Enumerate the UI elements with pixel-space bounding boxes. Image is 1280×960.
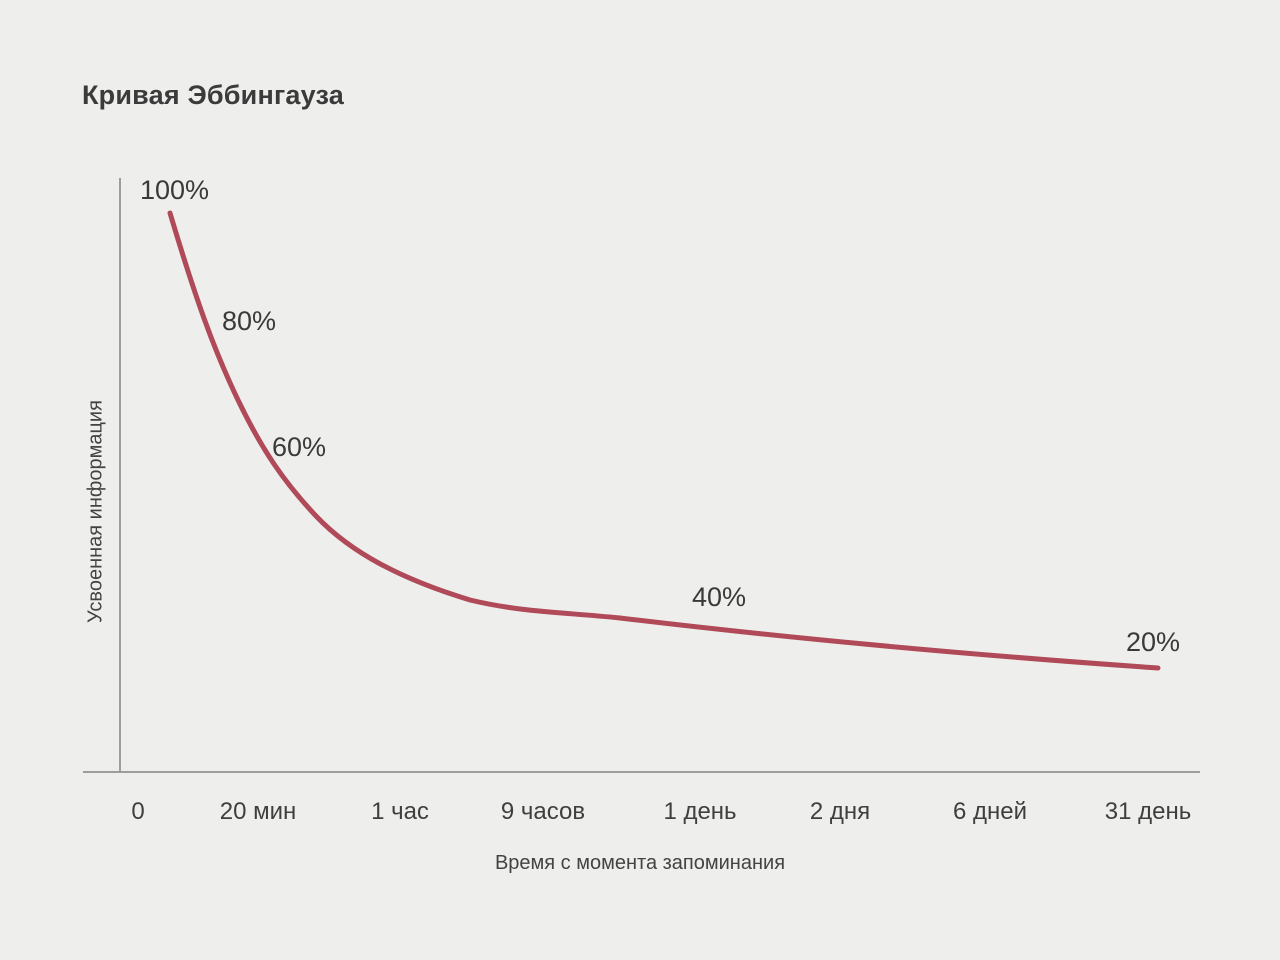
x-axis-title: Время с момента запоминания	[0, 852, 1280, 875]
x-tick-label-6: 6 дней	[953, 798, 1027, 826]
data-label-20-percent: 20%	[1126, 627, 1180, 658]
x-tick-label-0: 0	[131, 798, 144, 826]
x-tick-label-3: 9 часов	[501, 798, 585, 826]
x-tick-label-7: 31 день	[1105, 798, 1191, 826]
x-tick-label-2: 1 час	[371, 798, 429, 826]
x-tick-label-4: 1 день	[663, 798, 736, 826]
x-tick-label-5: 2 дня	[810, 798, 870, 826]
x-tick-label-1: 20 мин	[220, 798, 297, 826]
y-axis-title: Усвоенная информация	[85, 362, 108, 662]
data-label-100-percent: 100%	[140, 175, 209, 206]
data-label-80-percent: 80%	[222, 306, 276, 337]
plot-area	[0, 0, 1280, 960]
data-label-40-percent: 40%	[692, 582, 746, 613]
ebbinghaus-forgetting-curve-chart: Кривая Эббингауза 0 20 мин 1 час 9 часов…	[0, 0, 1280, 960]
data-label-60-percent: 60%	[272, 432, 326, 463]
